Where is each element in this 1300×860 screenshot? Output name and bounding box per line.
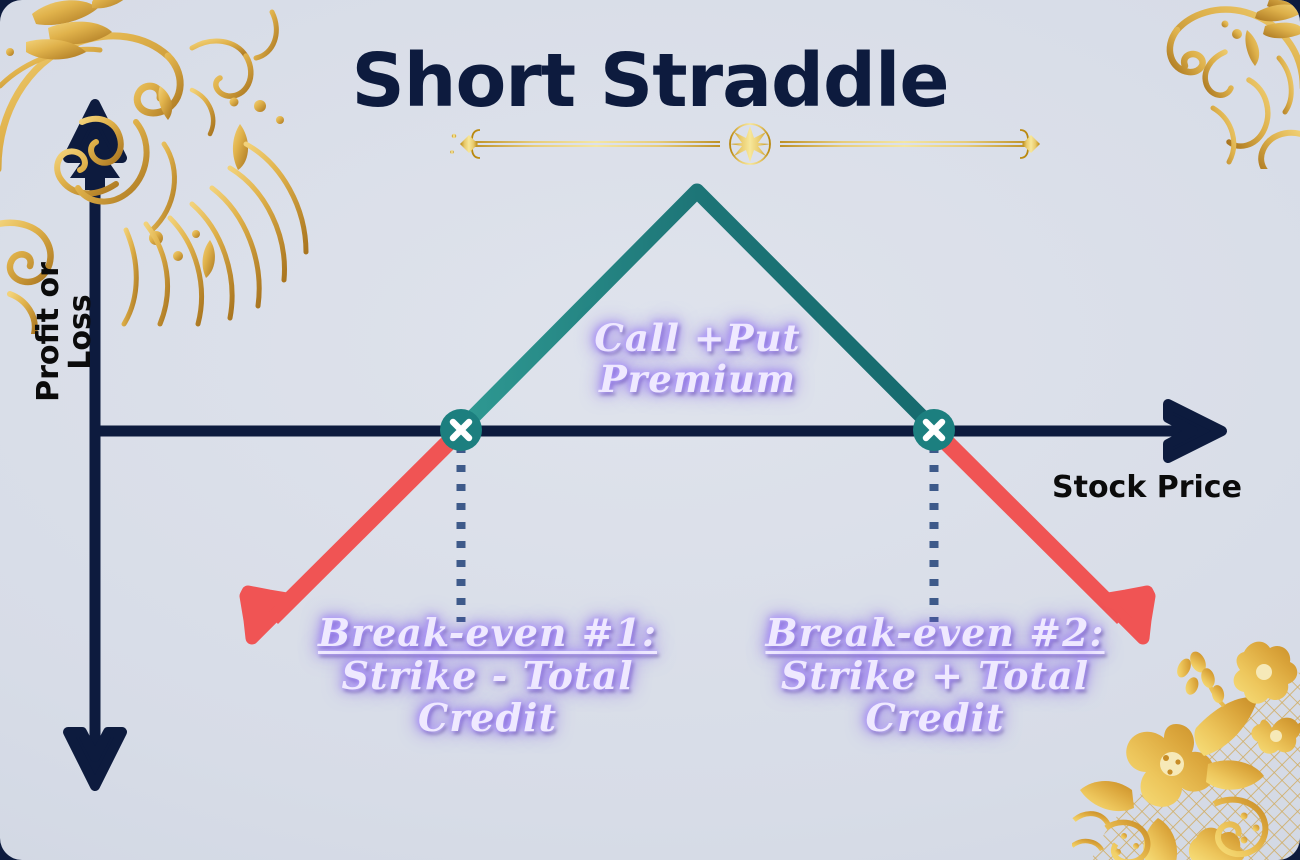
page-title: Short Straddle — [0, 38, 1300, 124]
breakeven-1-heading: Break-even #1: — [315, 612, 660, 655]
gold-starburst-divider-ornament — [450, 122, 1050, 166]
loss-line-right — [934, 430, 1149, 638]
breakeven-2-marker[interactable] — [913, 409, 955, 451]
y-axis-label: Profit or Loss — [33, 222, 97, 442]
premium-line-1: Call +Put — [560, 318, 835, 359]
breakeven-2-line-1: Strike + Total — [760, 655, 1110, 698]
breakeven-1-annotation: Break-even #1: Strike - Total Credit — [315, 612, 660, 740]
breakeven-1-marker[interactable] — [440, 409, 482, 451]
breakeven-2-annotation: Break-even #2: Strike + Total Credit — [760, 612, 1110, 740]
breakeven-2-line-2: Credit — [760, 697, 1110, 740]
breakeven-1-line-1: Strike - Total — [315, 655, 660, 698]
y-axis — [68, 104, 122, 786]
premium-annotation: Call +Put Premium — [560, 318, 835, 401]
x-axis-label: Stock Price — [1052, 470, 1242, 506]
breakeven-2-heading: Break-even #2: — [760, 612, 1110, 655]
loss-line-left — [246, 430, 461, 638]
premium-line-2: Premium — [560, 359, 835, 400]
infographic-canvas: Short Straddle Profit or Los — [0, 0, 1300, 860]
breakeven-1-line-2: Credit — [315, 697, 660, 740]
x-axis — [95, 404, 1222, 458]
